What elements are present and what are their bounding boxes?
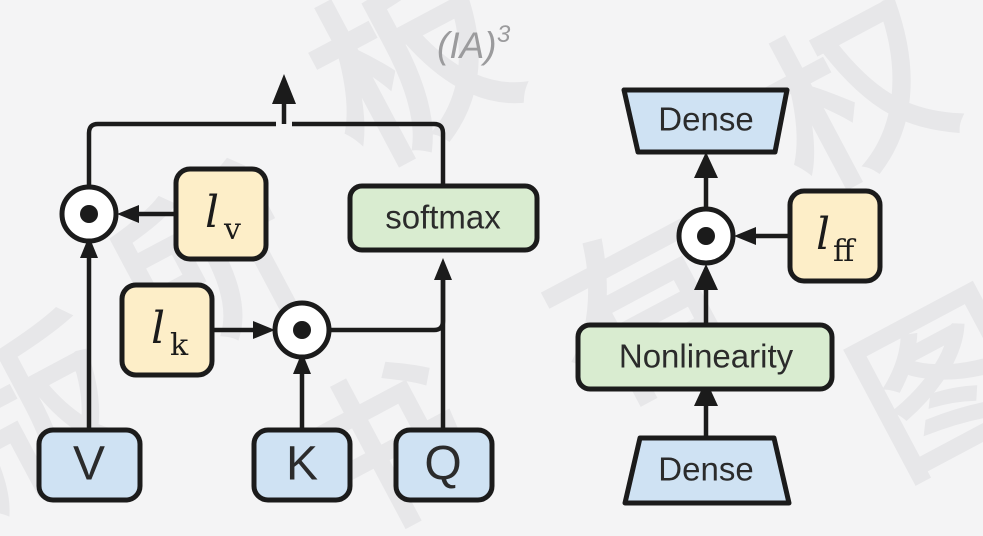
dense-input-layer[interactable]: Dense	[625, 438, 789, 503]
arrowhead-mul-to-denseout	[694, 152, 718, 178]
lv-box	[176, 169, 266, 259]
figure-title-text: (IA)	[437, 25, 497, 66]
lk-box	[122, 285, 212, 375]
figure-title: (IA) 3	[437, 21, 511, 66]
elementwise-multiply-ff[interactable]	[679, 209, 733, 263]
architecture-diagram: (IA) 3	[0, 0, 983, 536]
q-label: Q	[424, 438, 461, 491]
mul-ff-dot-icon	[697, 227, 715, 245]
elementwise-multiply-k[interactable]	[275, 303, 329, 357]
k-label: K	[286, 438, 318, 491]
lv-label-base: l	[205, 187, 219, 238]
dense-output-label: Dense	[658, 101, 753, 138]
lv-label-sub: v	[223, 212, 241, 247]
edge-mulk-to-softmax	[329, 270, 443, 330]
dense-input-label: Dense	[658, 451, 753, 488]
arrowhead-to-softmax	[434, 258, 452, 280]
arrowhead-lff-to-mul	[734, 227, 756, 245]
figure-title-superscript: 3	[497, 21, 511, 48]
v-label: V	[73, 438, 105, 491]
softmax-label: softmax	[385, 199, 501, 236]
softmax-node[interactable]: softmax	[350, 186, 537, 250]
lk-label-sub: k	[170, 328, 189, 363]
arrowhead-attention-output	[272, 74, 296, 104]
arrowhead-lv-to-mul	[117, 205, 139, 223]
input-v[interactable]: V	[39, 430, 140, 500]
learned-vector-lv[interactable]: l v	[176, 169, 266, 259]
mul-k-dot-icon	[293, 321, 311, 339]
mul-v-dot-icon	[80, 205, 98, 223]
arrowhead-nonlinearity-to-mul	[694, 264, 718, 290]
edge-softmax-to-bus	[292, 124, 443, 186]
input-k[interactable]: K	[254, 430, 350, 500]
dense-output-layer[interactable]: Dense	[624, 90, 787, 152]
elementwise-multiply-v[interactable]	[62, 187, 116, 241]
input-q[interactable]: Q	[396, 430, 492, 500]
lff-label-sub: ff	[833, 234, 857, 269]
figure-canvas: 板权所有图书版 (IA) 3	[0, 0, 983, 536]
learned-vector-lk[interactable]: l k	[122, 285, 212, 375]
arrowhead-lk-to-mul	[253, 321, 275, 339]
lk-label-base: l	[151, 303, 165, 354]
nonlinearity-label: Nonlinearity	[619, 338, 794, 375]
learned-vector-lff[interactable]: l ff	[790, 191, 880, 281]
nonlinearity-node[interactable]: Nonlinearity	[578, 325, 832, 389]
lff-label-base: l	[816, 209, 830, 260]
